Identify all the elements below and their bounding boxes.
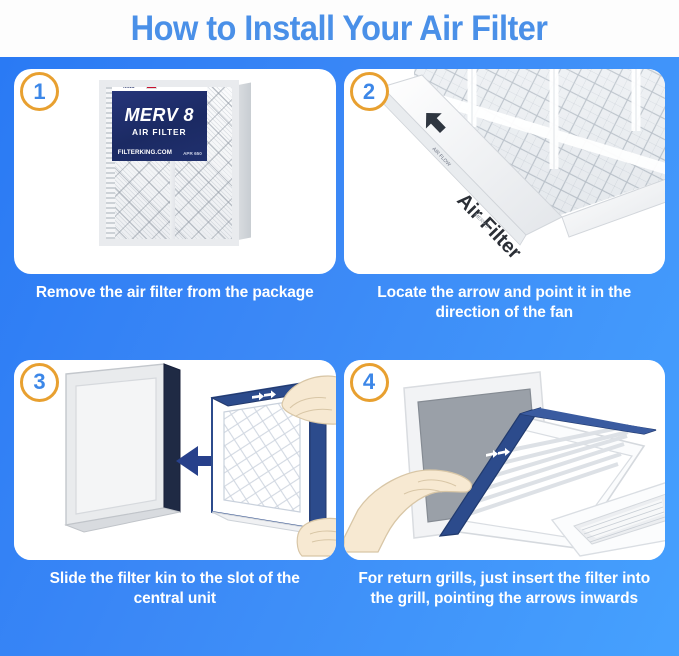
- step-badge-1: 1: [20, 72, 59, 111]
- step-panel-3: 3: [14, 360, 336, 647]
- step-card-1: 1: [14, 69, 336, 274]
- return-grill-svg: [344, 360, 666, 560]
- made-in-usa-text: MADE IN USA: [158, 81, 170, 90]
- product-type-label: AIR FILTER: [112, 127, 207, 137]
- step-caption-2: Locate the arrow and point it in the dir…: [344, 283, 666, 324]
- step-panel-2: 2: [344, 69, 666, 356]
- header: How to Install Your Air Filter: [0, 0, 679, 57]
- website-label: FILTERKING.COM: [118, 149, 172, 156]
- filter-photo: FILTER KING MADE IN USA: [99, 80, 251, 248]
- step-card-4: 4: [344, 360, 666, 560]
- step-caption-1: Remove the air filter from the package: [14, 283, 336, 303]
- filter-brand-label: FILTER KING MADE IN USA: [112, 91, 207, 161]
- filter-corner-svg: AIR FLOW Air Filter MERV 8: [344, 69, 666, 274]
- slide-filter-into-unit-illustration: [14, 360, 336, 560]
- apr-label: APR 650: [183, 151, 202, 156]
- made-in-usa-block: MADE IN USA: [146, 81, 171, 90]
- made-in-label: MADE IN: [158, 81, 170, 84]
- filter-front-face: FILTER KING MADE IN USA: [99, 80, 239, 246]
- filter-label-header: FILTER KING MADE IN USA: [112, 80, 207, 91]
- central-unit-housing: [66, 364, 180, 532]
- insert-filter-into-return-grill-illustration: [344, 360, 666, 560]
- step-card-3: 3: [14, 360, 336, 560]
- brand-line-1: FILTER: [123, 80, 139, 84]
- page-title: How to Install Your Air Filter: [131, 9, 548, 49]
- crown-icon: [116, 82, 122, 88]
- us-flag-icon: [146, 82, 157, 89]
- filter-corner-arrow-photo: AIR FLOW Air Filter MERV 8: [344, 69, 666, 274]
- slide-filter-svg: [14, 360, 336, 560]
- step-badge-4: 4: [350, 363, 389, 402]
- step-badge-3: 3: [20, 363, 59, 402]
- step-panel-4: 4: [344, 360, 666, 647]
- filter-king-logo: FILTER KING: [116, 80, 139, 89]
- label-footer-row: FILTERKING.COM APR 650: [118, 149, 202, 156]
- steps-grid: 1: [0, 57, 679, 656]
- step-panel-1: 1: [14, 69, 336, 356]
- step-caption-3: Slide the filter kin to the slot of the …: [14, 569, 336, 610]
- air-filter-product-photo: FILTER KING MADE IN USA: [14, 69, 336, 274]
- brand-line-2: KING: [123, 84, 134, 89]
- country-label: USA: [158, 83, 170, 89]
- merv-rating: MERV 8: [112, 105, 207, 126]
- brand-text: FILTER KING: [123, 80, 139, 89]
- step-badge-2: 2: [350, 72, 389, 111]
- step-caption-4: For return grills, just insert the filte…: [344, 569, 666, 610]
- step-card-2: 2: [344, 69, 666, 274]
- infographic-root: How to Install Your Air Filter 1: [0, 0, 679, 656]
